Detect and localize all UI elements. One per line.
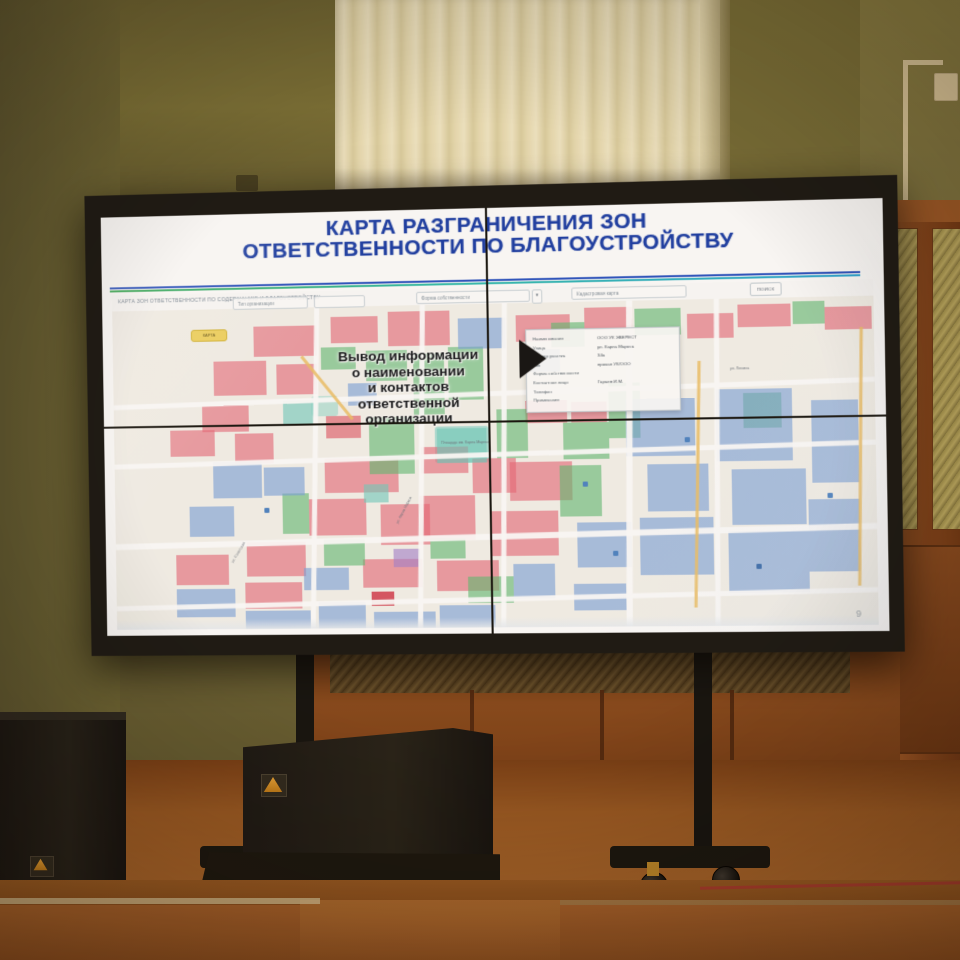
slide-page-number: 9 [856, 608, 862, 618]
info-label: Примечание [533, 396, 598, 406]
cart-caster-stem [647, 862, 659, 876]
stage-corner-block [300, 900, 560, 960]
chevron-down-icon[interactable]: ▾ [532, 289, 543, 303]
parcel-blue[interactable] [728, 530, 810, 593]
ownership-select[interactable]: Форма собственности [416, 290, 530, 305]
parcel-red[interactable] [176, 555, 229, 586]
parcel-teal[interactable] [364, 484, 389, 503]
cart-leg-right [694, 640, 712, 858]
map-marker-icon[interactable] [613, 551, 618, 556]
wall-conduit-vertical [903, 60, 908, 220]
info-value [598, 394, 674, 404]
parcel-green[interactable] [560, 465, 603, 517]
wall-socket [236, 175, 258, 191]
parcel-red[interactable] [247, 542, 306, 577]
org-type-input[interactable]: Тип организации [233, 296, 308, 310]
parcel-red[interactable] [170, 430, 215, 457]
secondary-input[interactable] [314, 295, 365, 308]
parcel-red[interactable] [737, 304, 790, 328]
parcel-red[interactable] [330, 316, 377, 343]
map-marker-icon[interactable] [264, 508, 269, 513]
parcel-blue[interactable] [458, 318, 506, 349]
parcel-blue[interactable] [213, 462, 262, 499]
map-marker-icon[interactable] [827, 493, 832, 498]
map-marker-icon[interactable] [583, 482, 588, 487]
wall-switch-box [934, 73, 958, 101]
parcel-blue[interactable] [732, 468, 807, 525]
video-wall-display[interactable]: КАРТА РАЗГРАНИЧЕНИЯ ЗОН ОТВЕТСТВЕННОСТИ … [84, 175, 904, 656]
map-marker-icon[interactable] [756, 564, 761, 569]
parcel-green[interactable] [282, 493, 309, 534]
parcel-blue[interactable] [647, 464, 709, 512]
map-pill-button[interactable]: КАРТА [191, 329, 228, 342]
parcel-red[interactable] [213, 361, 266, 396]
parcel-blue[interactable] [190, 506, 235, 537]
feature-info-popup[interactable]: Наименование ООО УК ЭВЕРЕСТ Улица ул. Ка… [525, 326, 681, 413]
stage-lip-left [0, 898, 320, 904]
parcel-purple[interactable] [393, 549, 420, 568]
map-label-street-c: ул. Ленина [730, 366, 749, 370]
wall-conduit-horizontal [903, 60, 943, 65]
parcel-blue[interactable] [640, 517, 715, 575]
map-marker-icon[interactable] [685, 437, 690, 442]
stage-lip-right [560, 900, 960, 905]
curtain-left [120, 0, 340, 215]
parcel-red[interactable] [687, 313, 734, 339]
map-application[interactable]: КАРТА ЗОН ОТВЕТСТВЕННОСТИ ПО СОДЕРЖАНИЮ … [112, 279, 879, 630]
parcel-blue[interactable] [808, 499, 860, 572]
subwoofer-speaker [0, 712, 126, 890]
parcel-blue[interactable] [264, 467, 305, 496]
callout-arrow-icon [519, 339, 547, 378]
parcel-red[interactable] [824, 306, 871, 330]
search-button[interactable]: ПОИСК [750, 282, 782, 296]
layer-select[interactable]: Кадастровая карта [571, 285, 686, 300]
door-glass-panel-right [932, 228, 960, 530]
parcel-red[interactable] [202, 405, 249, 432]
parcel-blue[interactable] [577, 522, 632, 568]
screen-surface[interactable]: КАРТА РАЗГРАНИЧЕНИЯ ЗОН ОТВЕТСТВЕННОСТИ … [101, 198, 890, 636]
parcel-green[interactable] [792, 301, 824, 324]
subwoofer-top [0, 712, 126, 720]
parcel-red[interactable] [309, 499, 367, 536]
room-photo: КАРТА РАЗГРАНИЧЕНИЯ ЗОН ОТВЕТСТВЕННОСТИ … [0, 0, 960, 960]
parcel-blue[interactable] [513, 564, 555, 599]
cart-foot-right [610, 846, 770, 868]
parcel-blue[interactable] [716, 388, 793, 461]
info-row: Примечание [533, 394, 673, 405]
map-label-square: Площадь им. Карла Маркса [441, 440, 489, 445]
